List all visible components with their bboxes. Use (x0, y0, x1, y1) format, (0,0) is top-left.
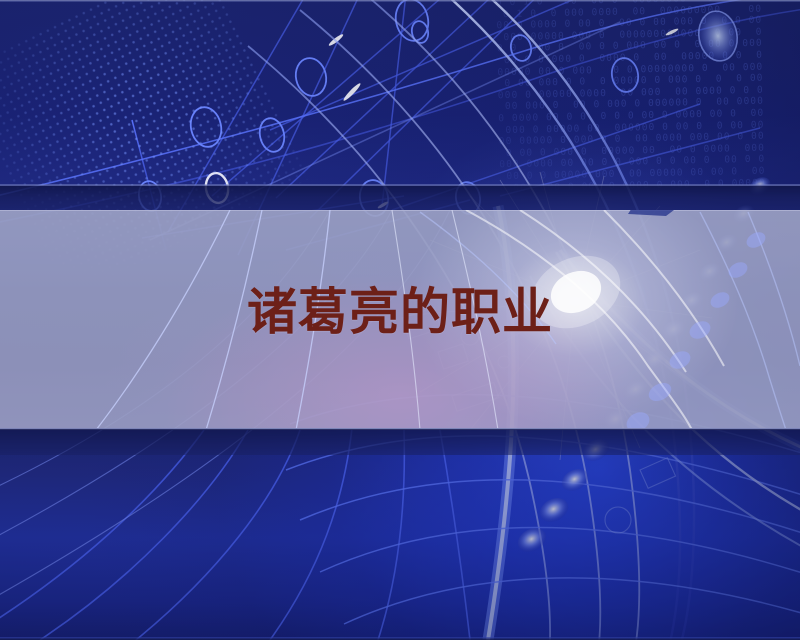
slide-canvas: 0 0 1 0 00 00 0 00000000 0 00 0 0 1 0 0 … (0, 0, 800, 640)
title-container: 诸葛亮的职业 (0, 282, 800, 342)
page-title: 诸葛亮的职业 (247, 282, 553, 342)
top-hairline (0, 0, 800, 2)
band-top-dark (0, 185, 800, 211)
band-bottom-dark (0, 428, 800, 455)
